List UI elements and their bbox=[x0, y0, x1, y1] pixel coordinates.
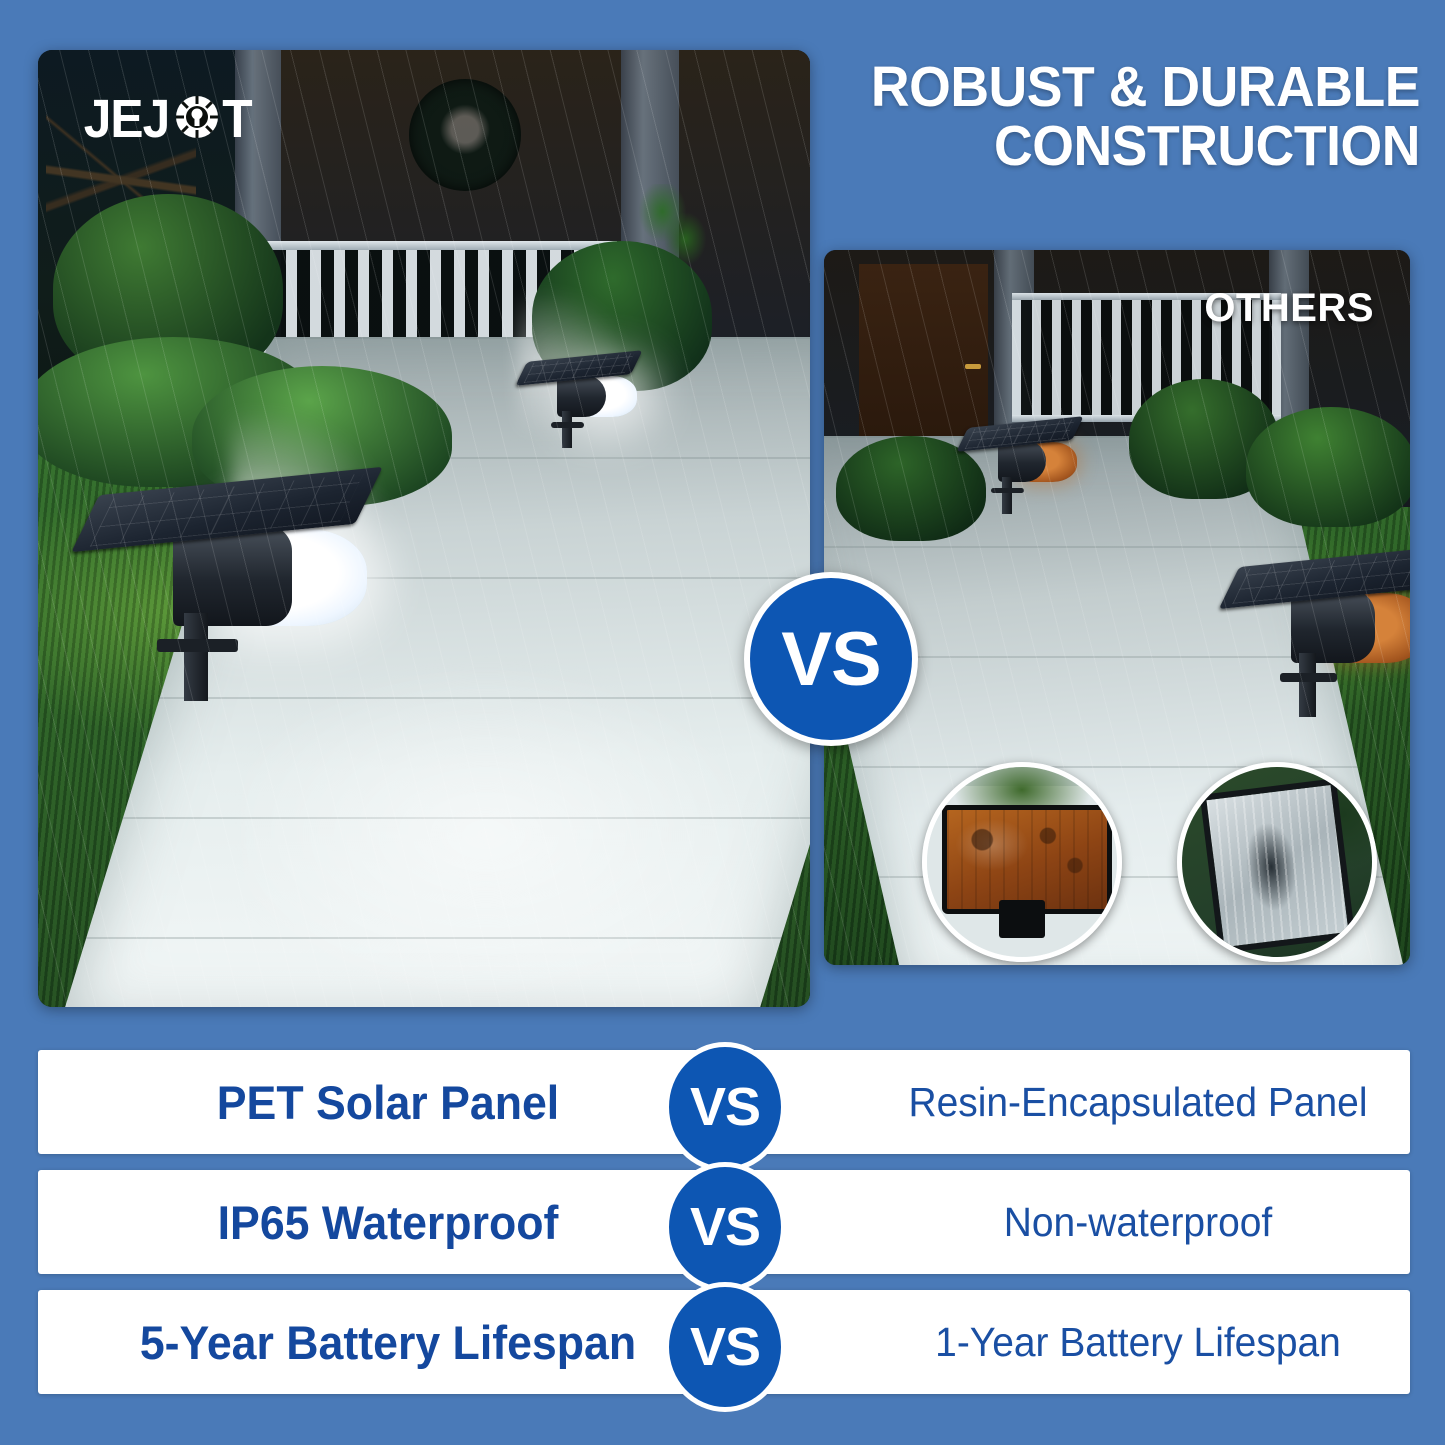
headline-line-1: ROBUST & DURABLE bbox=[871, 55, 1420, 119]
feature-ours: 5-Year Battery Lifespan bbox=[56, 1315, 721, 1370]
lamp-bracket bbox=[157, 639, 238, 652]
lamp-stake bbox=[1002, 477, 1012, 514]
headline-line-2: CONSTRUCTION bbox=[865, 117, 1420, 176]
lamp-mount bbox=[999, 900, 1045, 938]
shrub bbox=[836, 436, 986, 541]
product-photo-jejot: JEJ bbox=[38, 50, 810, 1007]
solar-spotlight-near bbox=[92, 481, 362, 701]
vs-badge-row: VS bbox=[664, 1042, 786, 1172]
comparison-row: IP65 Waterproof VS Non-waterproof bbox=[38, 1170, 1410, 1274]
others-spotlight-far bbox=[965, 422, 1075, 514]
lamp-bracket bbox=[551, 422, 584, 428]
rail-top bbox=[262, 241, 617, 250]
rusted-lamp-inset bbox=[922, 762, 1122, 962]
corroded-lamp-face bbox=[942, 805, 1112, 914]
lamp-stake bbox=[1299, 653, 1316, 717]
lamp-stake bbox=[184, 613, 208, 701]
sun-bulb-icon bbox=[174, 94, 220, 145]
feature-theirs: Non-waterproof bbox=[880, 1199, 1397, 1246]
degraded-panel-surface bbox=[1199, 778, 1355, 954]
comparison-row: PET Solar Panel VS Resin-Encapsulated Pa… bbox=[38, 1050, 1410, 1154]
feature-ours: PET Solar Panel bbox=[56, 1075, 721, 1130]
brand-logo: JEJ bbox=[80, 88, 253, 150]
comparison-table: PET Solar Panel VS Resin-Encapsulated Pa… bbox=[38, 1050, 1410, 1410]
page-title: ROBUST & DURABLE CONSTRUCTION bbox=[865, 58, 1420, 177]
others-label: OTHERS bbox=[1204, 286, 1374, 331]
feature-ours: IP65 Waterproof bbox=[56, 1195, 721, 1250]
lamp-body bbox=[1291, 589, 1375, 663]
vs-badge-row: VS bbox=[664, 1162, 786, 1292]
feature-theirs: Resin-Encapsulated Panel bbox=[880, 1079, 1397, 1126]
others-spotlight-near bbox=[1234, 557, 1410, 717]
lamp-stake bbox=[562, 411, 572, 448]
vs-badge-row: VS bbox=[664, 1282, 786, 1412]
shrub bbox=[1246, 407, 1410, 527]
lamp-bracket bbox=[991, 488, 1024, 494]
feature-theirs: 1-Year Battery Lifespan bbox=[880, 1319, 1397, 1366]
door-wreath bbox=[409, 79, 521, 191]
brand-logo-text-left: JEJ bbox=[84, 88, 170, 150]
door-handle bbox=[965, 364, 981, 369]
lamp-bracket bbox=[1280, 673, 1337, 683]
infographic-canvas: ROBUST & DURABLE CONSTRUCTION bbox=[0, 0, 1445, 1445]
comparison-row: 5-Year Battery Lifespan VS 1-Year Batter… bbox=[38, 1290, 1410, 1394]
damaged-solar-panel-inset bbox=[1177, 762, 1377, 962]
product-photo-others: OTHERS bbox=[824, 250, 1410, 965]
brand-logo-text-right: T bbox=[222, 88, 251, 150]
vs-badge-main: VS bbox=[744, 572, 918, 746]
solar-spotlight-far bbox=[524, 356, 634, 448]
